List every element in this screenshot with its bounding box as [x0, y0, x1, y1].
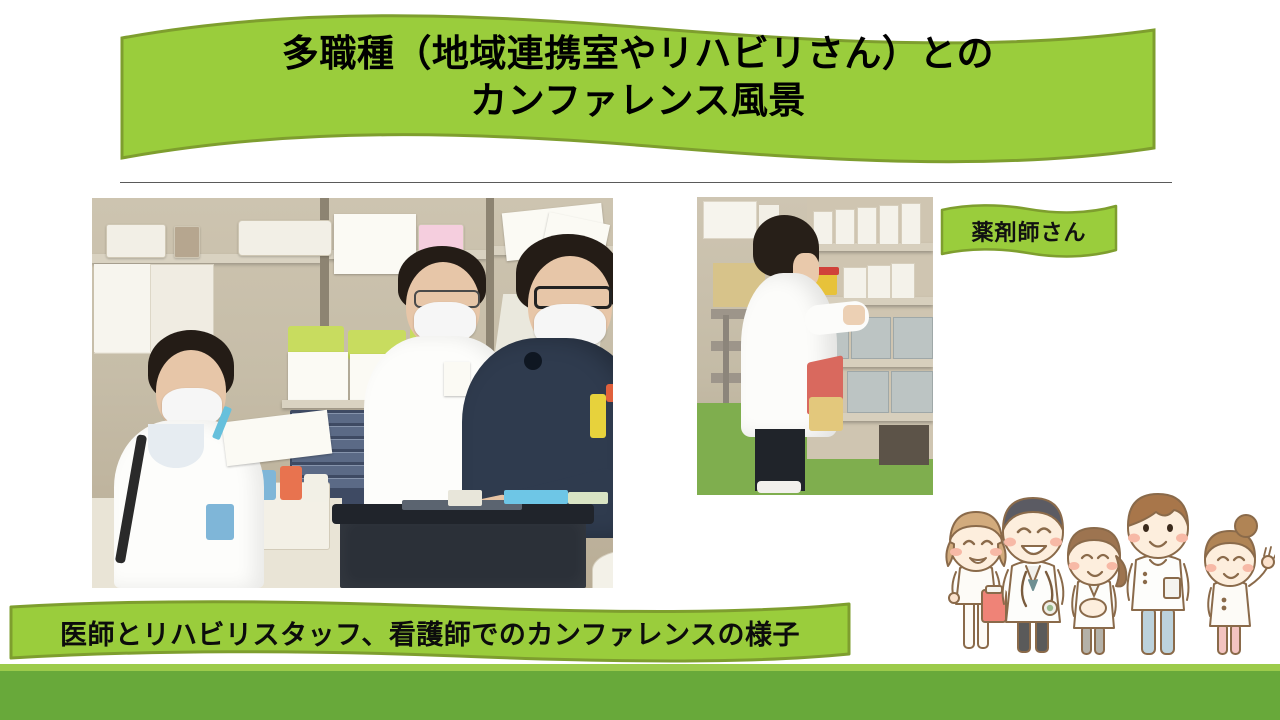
photo2-person-shoes: [757, 481, 801, 493]
medical-staff-illustration-svg: [930, 448, 1275, 668]
title-banner: [118, 8, 1158, 176]
photo1-laptop-paper: [448, 490, 482, 506]
photo2-medicine-bag: [843, 267, 867, 299]
photo2-medicine-bag: [891, 263, 915, 299]
photo-pharmacist: [697, 197, 933, 495]
photo1-supply-item: [280, 466, 302, 500]
photo1-person-nurse-collar: [148, 424, 204, 468]
photo1-laptop-screen: [340, 516, 586, 588]
cartoon-doctor: [1003, 498, 1064, 652]
caption-banner-shape: [8, 598, 852, 666]
photo1-box: [174, 226, 200, 258]
footer-accent-bar: [0, 664, 1280, 671]
photo1-id-badge: [590, 394, 606, 438]
photo2-storage-bin: [891, 371, 933, 413]
photo2-yellow-tray: [809, 397, 843, 431]
photo1-box: [106, 224, 166, 258]
pharmacist-label-shape: [938, 200, 1120, 262]
photo1-supply-item: [304, 474, 328, 502]
photo2-storage-bin: [847, 371, 889, 413]
photo1-wall-pocket: [94, 264, 151, 352]
photo2-medicine-bag: [879, 205, 899, 245]
cartoon-female-staff: [1068, 528, 1126, 654]
photo2-lower-drawer: [879, 425, 929, 465]
cartoon-nurse-clipboard: [946, 512, 1006, 648]
photo2-medicine-bag: [835, 209, 855, 245]
medical-staff-illustration: [930, 448, 1275, 668]
header-divider: [120, 182, 1172, 183]
cartoon-male-scrubs: [1128, 494, 1189, 654]
cartoon-nurse-waving: [1205, 515, 1275, 654]
photo1-badge-charm: [606, 384, 613, 402]
caption-banner: [8, 598, 852, 666]
footer-bar: [0, 671, 1280, 720]
photo2-medicine-bag: [901, 203, 921, 245]
photo1-basket: [238, 220, 332, 256]
photo1-collar-button: [524, 352, 542, 370]
photo2-medicine-bag: [867, 265, 891, 299]
photo2-wall-sign: [703, 201, 757, 239]
photo2-cart-post: [723, 315, 729, 403]
title-banner-shape: [118, 8, 1158, 176]
photo1-desk-item: [568, 492, 608, 504]
photo1-desk-item: [504, 490, 568, 504]
pharmacist-label-banner: [938, 200, 1120, 262]
photo2-storage-bin: [893, 317, 933, 359]
photo-conference: [92, 198, 613, 588]
slide-canvas: 多職種（地域連携室やリハビリさん）との カンファレンス風景: [0, 0, 1280, 720]
photo2-person-hand: [843, 305, 865, 325]
photo1-paper: [288, 352, 348, 402]
photo2-medicine-bag: [857, 207, 877, 245]
photo1-pocket-item: [206, 504, 234, 540]
